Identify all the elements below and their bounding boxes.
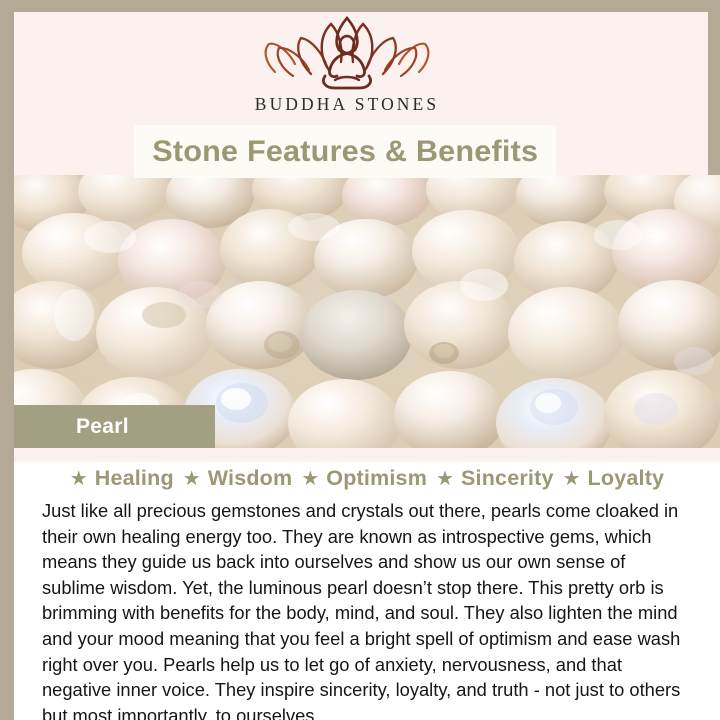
stone-name: Pearl: [76, 415, 129, 439]
stone-description: Just like all precious gemstones and cry…: [42, 498, 684, 720]
star-icon: ★: [70, 469, 88, 489]
benefit-item-wisdom: ★ Wisdom: [183, 466, 293, 491]
benefits-row: ★ Healing ★ Wisdom ★ Optimism ★ Sincerit…: [14, 466, 720, 491]
brand-wordmark: BUDDHA STONES: [255, 94, 439, 115]
lotus-meditation-icon: [259, 14, 435, 92]
stone-features-poster: BUDDHA STONES Stone Features & Benefits: [0, 0, 720, 720]
benefit-label: Wisdom: [208, 466, 293, 491]
brand-header: BUDDHA STONES: [0, 14, 694, 126]
description-panel: ★ Healing ★ Wisdom ★ Optimism ★ Sincerit…: [14, 448, 720, 720]
star-icon: ★: [183, 469, 201, 489]
star-icon: ★: [436, 469, 454, 489]
benefit-label: Sincerity: [461, 466, 554, 491]
benefit-item-healing: ★ Healing: [70, 466, 174, 491]
page-title: Stone Features & Benefits: [152, 135, 538, 169]
benefit-item-optimism: ★ Optimism: [301, 466, 427, 491]
star-icon: ★: [563, 469, 581, 489]
benefit-item-sincerity: ★ Sincerity: [436, 466, 554, 491]
benefit-item-loyalty: ★ Loyalty: [563, 466, 665, 491]
section-title-banner: Stone Features & Benefits: [134, 125, 556, 178]
star-icon: ★: [301, 469, 319, 489]
benefit-label: Loyalty: [588, 466, 665, 491]
stone-name-bar: Pearl: [14, 405, 215, 448]
panel-top-tint: [14, 448, 720, 462]
benefit-label: Optimism: [326, 466, 427, 491]
benefit-label: Healing: [95, 466, 174, 491]
